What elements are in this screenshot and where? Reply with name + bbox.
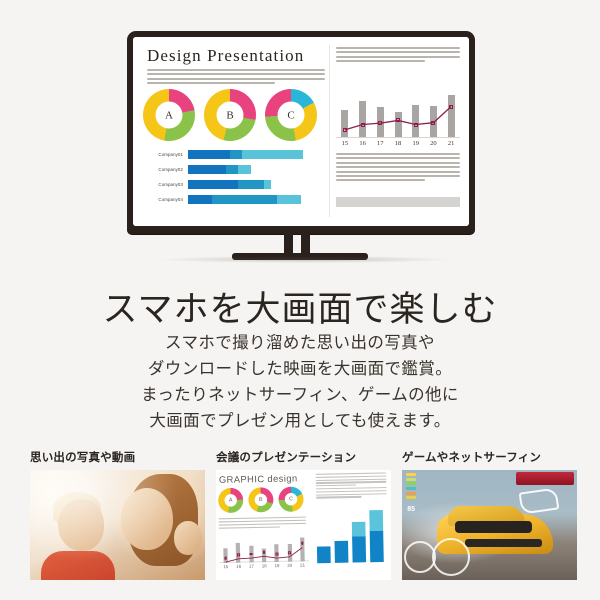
bar-segment [226,165,239,174]
bar-segment [277,195,301,204]
combo-chart-x-label: 16 [359,140,366,147]
tv-frame: Design Presentation ABC Company01Company… [127,31,475,234]
text-line [336,166,460,168]
slide-placeholder-block [336,197,460,207]
body-copy-line: ダウンロードした映画を大画面で鑑賞。 [0,356,600,382]
graphic-right-text-line [316,481,387,484]
bar-chart-track [188,195,327,204]
text-line [147,82,275,84]
combo-chart-x-label: 18 [395,140,402,147]
bar-chart-row: Company02 [141,164,327,175]
combo-chart-plot [336,93,460,138]
text-line [336,47,460,49]
graphic-right-text-line [316,487,387,490]
tv-screen: Design Presentation ABC Company01Company… [133,37,469,226]
graphic-right-text-line [316,475,387,478]
slide-title: Design Presentation [147,47,325,64]
bar-segment [230,150,243,159]
text-line [336,179,425,181]
graphic-slide-donuts: ABC [218,487,304,514]
text-line [147,78,325,80]
slide-intro-paragraph [147,69,325,84]
game-hud-banner [516,472,574,485]
bar-chart-row: Company03 [141,179,327,190]
graphic-right-text-line [316,485,357,487]
game-hud-meter [406,473,416,501]
bar-chart-label: Company03 [141,182,188,187]
graphic-stacked-segment [352,521,366,536]
graphic-stacked-segment [317,547,331,563]
graphic-text-line [219,526,280,529]
bar-chart-label: Company04 [141,197,188,202]
feature-panel-presentation-title: 会議のプレゼンテーション [216,449,391,465]
page-body-copy: スマホで撮り溜めた思い出の写真やダウンロードした映画を大画面で鑑賞。まったりネッ… [0,330,600,434]
graphic-stacked-bar [317,547,331,563]
graphic-slide-title: GRAPHIC design [219,473,298,485]
combo-chart-x-label: 17 [377,140,384,147]
combo-chart-line [336,93,460,138]
game-hud-meter-bar [406,478,416,481]
page-root: Design Presentation ABC Company01Company… [0,0,600,600]
text-line [336,56,460,58]
combo-chart-x-label: 19 [412,140,419,147]
graphic-combo-line [219,534,309,569]
slide-left-column: Design Presentation [147,47,325,87]
bar-chart-row: Company01 [141,149,327,160]
text-line [336,157,460,159]
page-headline: スマホを大画面で楽しむ [0,281,600,332]
game-logo-icon [518,487,559,514]
game-hud-ring-right[interactable] [432,538,470,576]
graphic-stacked-bar [369,510,384,562]
body-copy-line: まったりネットサーフィン、ゲームの他に [0,382,600,408]
game-hud-meter-bar [406,496,416,499]
feature-panel-game[interactable]: ゲームやネットサーフィン 85 [402,449,577,580]
graphic-design-slide: GRAPHIC design ABC 15161718192021 [216,470,391,580]
graphic-stacked-segment [352,536,366,562]
bar-chart-track [188,165,327,174]
presentation-slide: Design Presentation ABC Company01Company… [133,37,469,226]
game-hud-meter-bar [406,473,416,476]
graphic-donut-label: C [285,493,298,506]
bar-chart-label: Company01 [141,152,188,157]
donut-chart-label: C [278,102,305,129]
bar-chart-track [188,150,327,159]
tv-illustration: Design Presentation ABC Company01Company… [0,0,600,280]
graphic-donut-a: A [218,488,243,513]
bar-chart-track [188,180,327,189]
racing-game-screenshot: 85 [402,470,577,580]
combo-chart-x-label: 21 [448,140,455,147]
graphic-slide-combo-chart: 15161718192021 [219,534,309,569]
graphic-donut-label: A [224,494,237,507]
graphic-right-text-line [316,496,361,498]
feature-panel-presentation[interactable]: 会議のプレゼンテーション GRAPHIC design ABC 15161718… [216,449,391,580]
graphic-right-text-line [316,493,387,496]
bar-segment [264,180,271,189]
graphic-text-line [219,523,306,526]
game-car-window [455,521,532,533]
combo-chart-axis [336,137,460,138]
feature-panel-game-title: ゲームやネットサーフィン [402,449,577,465]
game-hud-ring-left[interactable] [404,541,436,573]
graphic-stacked-bar [334,541,348,563]
feature-panels: 思い出の写真や動画 会議のプレゼンテーション GRAPHIC design [0,449,600,600]
bar-segment [212,195,277,204]
horizontal-bar-chart: Company01Company02Company03Company04 [141,149,327,209]
combo-chart-x-label: 15 [342,140,349,147]
combo-chart: 15161718192021 [336,93,460,147]
photo-light-glow [30,470,205,580]
bar-segment [238,180,264,189]
bar-chart-label: Company02 [141,167,188,172]
feature-panel-game-image: 85 [402,470,577,580]
donut-chart-group: ABC [143,89,325,141]
bar-segment [188,165,226,174]
graphic-stacked-segment [334,541,348,563]
mother-and-child-photo [30,470,205,580]
right-paragraph-top [336,47,460,62]
text-line [336,51,460,53]
body-copy-line: 大画面でプレゼン用としても使えます。 [0,408,600,434]
text-line [336,171,460,173]
bar-segment [188,150,230,159]
feature-panel-presentation-image: GRAPHIC design ABC 15161718192021 [216,470,391,580]
game-hud-meter-bar [406,487,416,490]
bar-segment [188,195,212,204]
graphic-donut-c: C [278,487,303,512]
bar-segment [188,180,238,189]
graphic-donut-b: B [248,487,273,512]
graphic-stacked-bar [352,521,366,562]
game-hud-meter-bar [406,482,416,485]
text-line [336,153,460,155]
text-line [147,73,325,75]
graphic-slide-text-lines [219,517,307,531]
game-car-grill [465,539,542,547]
text-line [336,162,460,164]
text-line [336,175,460,177]
slide-right-column: 15161718192021 [336,47,460,65]
right-paragraph-bottom [336,153,460,184]
donut-chart-label: B [217,102,244,129]
graphic-stacked-segment [370,531,384,563]
donut-chart-c: C [265,89,317,141]
combo-chart-x-label: 20 [430,140,437,147]
graphic-slide-right-text [316,472,387,500]
donut-chart-b: B [204,89,256,141]
graphic-right-text-line [316,490,387,493]
bar-chart-row: Company04 [141,194,327,205]
feature-panel-photos-title: 思い出の写真や動画 [30,449,205,465]
game-hud-meter-bar [406,492,416,495]
text-line [147,69,325,71]
bar-segment [242,150,303,159]
bar-segment [238,165,251,174]
text-line [336,60,425,62]
graphic-donut-label: B [255,493,268,506]
donut-chart-label: A [156,102,183,129]
tv-shadow [160,256,450,263]
feature-panel-photos-image [30,470,205,580]
feature-panel-photos[interactable]: 思い出の写真や動画 [30,449,205,580]
graphic-slide-stacked-chart [316,508,388,563]
donut-chart-a: A [143,89,195,141]
graphic-stacked-segment [369,510,383,531]
body-copy-line: スマホで撮り溜めた思い出の写真や [0,330,600,356]
slide-divider [329,45,330,217]
